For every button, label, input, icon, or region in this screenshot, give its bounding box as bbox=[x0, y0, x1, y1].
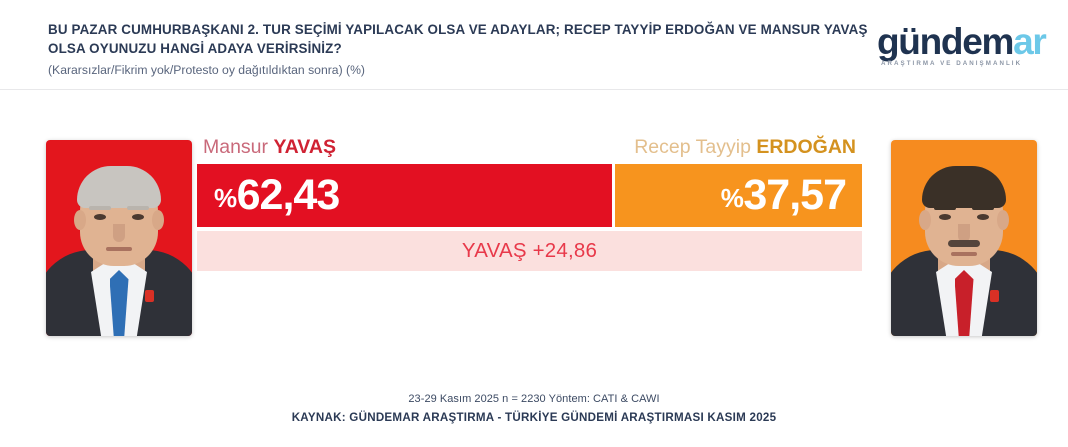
portrait-ear-right bbox=[997, 210, 1009, 230]
candidate-lastname-yavas: YAVAŞ bbox=[273, 136, 336, 158]
portrait-mouth bbox=[951, 252, 977, 256]
page-title: BU PAZAR CUMHURBAŞKANI 2. TUR SEÇİMİ YAP… bbox=[48, 20, 868, 58]
percent-value-yavas: 62,43 bbox=[237, 171, 340, 219]
page-subtitle: (Kararsızlar/Fikrim yok/Protesto oy dağı… bbox=[48, 63, 868, 79]
portrait-eye-left bbox=[939, 214, 951, 220]
candidate-lastname-erdogan: ERDOĞAN bbox=[756, 136, 856, 158]
portrait-eye-right bbox=[977, 214, 989, 220]
portrait-ear-left bbox=[74, 210, 86, 230]
portrait-brow-right bbox=[972, 206, 994, 210]
candidate-firstname-yavas: Mansur bbox=[203, 136, 273, 158]
logo-word-light: ar bbox=[1013, 21, 1045, 62]
portrait-brow-left bbox=[89, 206, 111, 210]
candidate-name-erdogan: Recep Tayyip ERDOĞAN bbox=[634, 136, 856, 159]
portrait-nose bbox=[113, 224, 125, 242]
percent-symbol-erdogan: % bbox=[721, 183, 744, 213]
portrait-eye-left bbox=[94, 214, 106, 220]
candidate-photo-yavas bbox=[46, 140, 192, 336]
percent-label-erdogan: %37,57 bbox=[721, 174, 846, 217]
bar-segment-yavas: %62,43 bbox=[197, 164, 612, 227]
logo-wordmark: gündemar bbox=[877, 24, 1046, 59]
portrait-lapel-pin bbox=[990, 290, 999, 302]
portrait-lapel-pin bbox=[145, 290, 154, 302]
candidate-name-yavas: Mansur YAVAŞ bbox=[203, 136, 336, 159]
percent-symbol-yavas: % bbox=[214, 183, 237, 213]
percent-value-erdogan: 37,57 bbox=[743, 171, 846, 219]
portrait-illustration bbox=[891, 140, 1037, 336]
footer: 23-29 Kasım 2025 n = 2230 Yöntem: CATI &… bbox=[0, 393, 1068, 424]
portrait-brow-left bbox=[934, 206, 956, 210]
results-bars: Mansur YAVAŞ Recep Tayyip ERDOĞAN %62,43… bbox=[197, 128, 862, 343]
portrait-mouth bbox=[106, 247, 132, 251]
chart-area: Mansur YAVAŞ Recep Tayyip ERDOĞAN %62,43… bbox=[0, 128, 1068, 343]
header: BU PAZAR CUMHURBAŞKANI 2. TUR SEÇİMİ YAP… bbox=[0, 0, 1068, 90]
logo-tagline: ARAŞTIRMA VE DANIŞMANLIK bbox=[881, 60, 1046, 67]
footer-source: KAYNAK: GÜNDEMAR ARAŞTIRMA - TÜRKİYE GÜN… bbox=[0, 411, 1068, 424]
logo-word-dark: gündem bbox=[877, 21, 1013, 62]
portrait-illustration bbox=[46, 140, 192, 336]
header-text-block: BU PAZAR CUMHURBAŞKANI 2. TUR SEÇİMİ YAP… bbox=[48, 20, 868, 79]
candidate-photo-erdogan bbox=[891, 140, 1037, 336]
portrait-mustache bbox=[948, 240, 980, 247]
vote-share-bar-row: %62,43 %37,57 bbox=[197, 164, 862, 227]
candidate-names-row: Mansur YAVAŞ Recep Tayyip ERDOĞAN bbox=[197, 128, 862, 164]
lead-margin-label: YAVAŞ +24,86 bbox=[462, 239, 597, 263]
portrait-ear-left bbox=[919, 210, 931, 230]
bar-segment-erdogan: %37,57 bbox=[612, 164, 862, 227]
gundemar-logo: gündemar ARAŞTIRMA VE DANIŞMANLIK bbox=[871, 24, 1046, 67]
candidate-firstname-erdogan: Recep Tayyip bbox=[634, 136, 756, 158]
portrait-ear-right bbox=[152, 210, 164, 230]
footer-methodology: 23-29 Kasım 2025 n = 2230 Yöntem: CATI &… bbox=[0, 393, 1068, 405]
portrait-eye-right bbox=[132, 214, 144, 220]
portrait-brow-right bbox=[127, 206, 149, 210]
lead-margin-bar: YAVAŞ +24,86 bbox=[197, 231, 862, 271]
percent-label-yavas: %62,43 bbox=[214, 174, 339, 217]
